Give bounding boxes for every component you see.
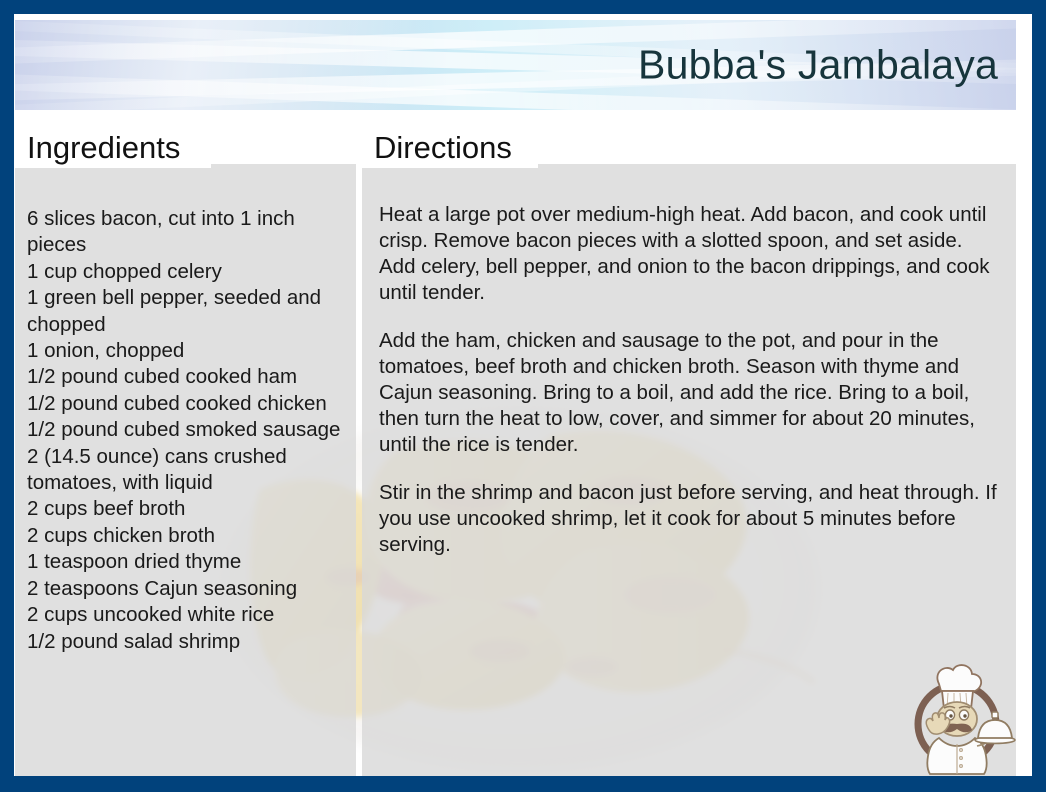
- directions-body: Heat a large pot over medium-high heat. …: [379, 202, 997, 580]
- ingredients-items: 6 slices bacon, cut into 1 inch pieces1 …: [27, 206, 348, 655]
- ingredient-item: 1 green bell pepper, seeded and chopped: [27, 285, 348, 338]
- directions-heading: Directions: [374, 132, 512, 163]
- directions-tab: Directions: [362, 126, 538, 168]
- ingredient-item: 1/2 pound salad shrimp: [27, 629, 348, 655]
- ingredient-item: 2 teaspoons Cajun seasoning: [27, 576, 348, 602]
- ingredient-item: 2 cups uncooked white rice: [27, 602, 348, 628]
- ingredients-tab: Ingredients: [15, 126, 211, 168]
- recipe-card: Bubba's Jambalaya Ingredients 6 slices b…: [0, 0, 1046, 792]
- ingredient-item: 1/2 pound cubed cooked ham: [27, 364, 348, 390]
- ingredient-item: 1 onion, chopped: [27, 338, 348, 364]
- ingredients-list: 6 slices bacon, cut into 1 inch pieces1 …: [27, 206, 348, 655]
- ingredient-item: 2 cups chicken broth: [27, 523, 348, 549]
- title-banner: Bubba's Jambalaya: [15, 20, 1016, 110]
- direction-paragraph: Add the ham, chicken and sausage to the …: [379, 328, 997, 458]
- recipe-title: Bubba's Jambalaya: [638, 45, 998, 86]
- ingredient-item: 2 (14.5 ounce) cans crushed tomatoes, wi…: [27, 444, 348, 497]
- ingredient-item: 1 teaspoon dried thyme: [27, 549, 348, 575]
- ingredient-item: 2 cups beef broth: [27, 496, 348, 522]
- direction-paragraph: Heat a large pot over medium-high heat. …: [379, 202, 997, 306]
- ingredients-heading: Ingredients: [27, 132, 180, 163]
- chef-logo: [899, 654, 1019, 776]
- ingredient-item: 1 cup chopped celery: [27, 259, 348, 285]
- ingredient-item: 1/2 pound cubed smoked sausage: [27, 417, 348, 443]
- direction-paragraph: Stir in the shrimp and bacon just before…: [379, 480, 997, 558]
- ingredient-item: 6 slices bacon, cut into 1 inch pieces: [27, 206, 348, 259]
- ingredient-item: 1/2 pound cubed cooked chicken: [27, 391, 348, 417]
- ingredients-panel: 6 slices bacon, cut into 1 inch pieces1 …: [15, 164, 356, 776]
- card-inner-surface: Bubba's Jambalaya Ingredients 6 slices b…: [14, 14, 1032, 776]
